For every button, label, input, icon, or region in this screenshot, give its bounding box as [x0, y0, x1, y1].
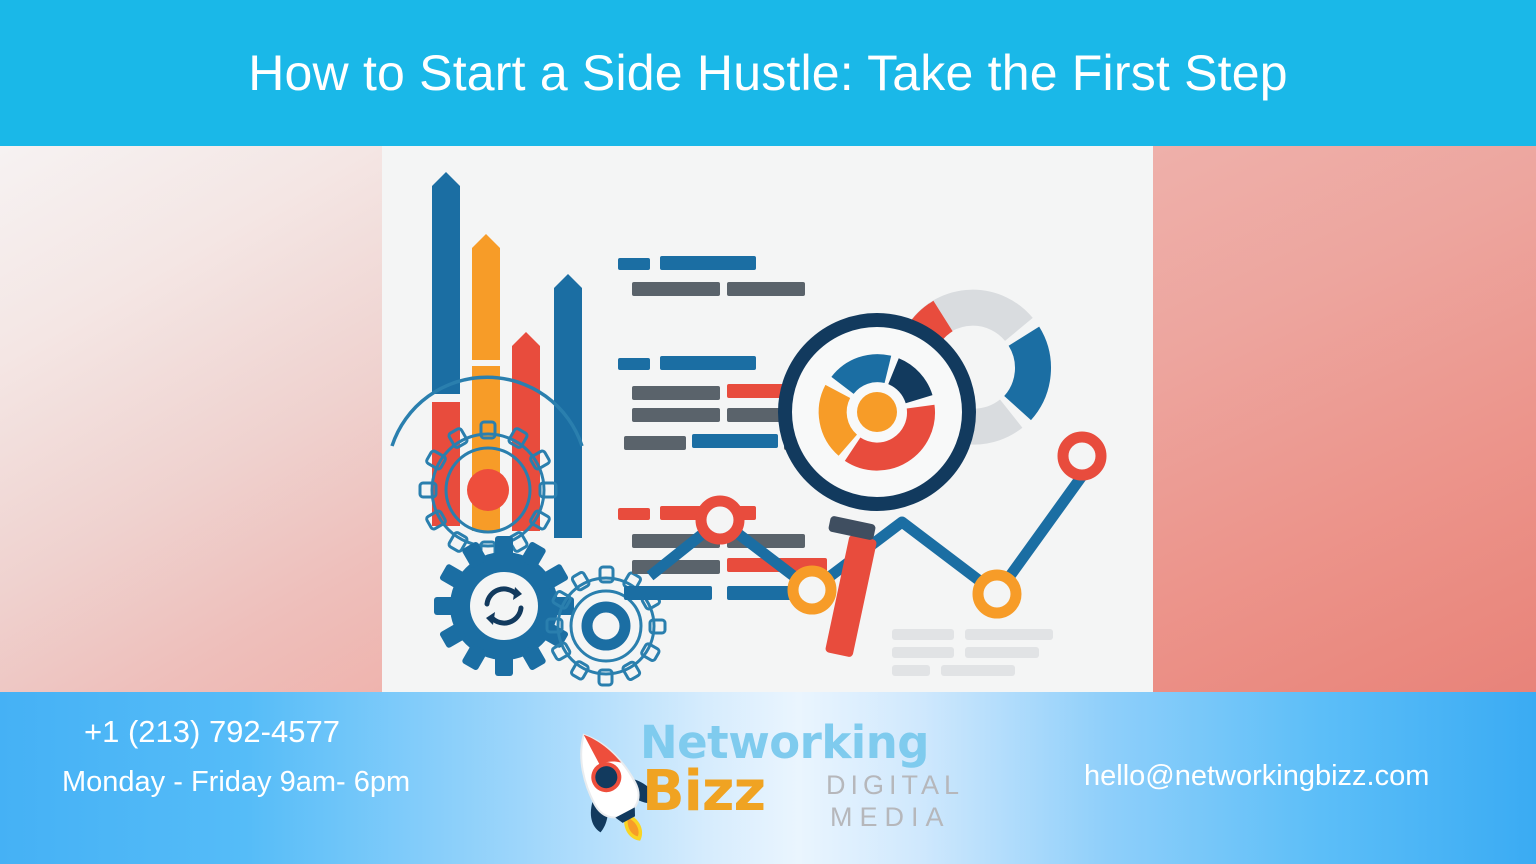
gear-outline-blue-ring [547, 567, 665, 685]
left-gradient-panel [0, 146, 382, 692]
logo-sub-digital: DIGITAL [826, 772, 964, 799]
text-lines-block-1 [618, 256, 805, 296]
footer-contact-block: +1 (213) 792-4577 Monday - Friday 9am- 6… [62, 714, 482, 799]
header-bar: How to Start a Side Hustle: Take the Fir… [0, 0, 1536, 146]
logo-sub-media: MEDIA [830, 804, 951, 831]
email-address[interactable]: hello@networkingbizz.com [1084, 760, 1429, 793]
gear-center-dot [467, 469, 509, 511]
donut-chart-magnified [833, 368, 921, 456]
right-gradient-panel [1153, 146, 1536, 692]
business-hours: Monday - Friday 9am- 6pm [62, 766, 482, 799]
placeholder-lines-group [892, 629, 1053, 676]
illustration-panel [382, 146, 1153, 692]
content-stage [0, 146, 1536, 692]
logo-line-bizz: Bizz [642, 764, 765, 820]
business-analytics-illustration [382, 146, 1153, 692]
page-title: How to Start a Side Hustle: Take the Fir… [248, 48, 1288, 98]
brand-logo[interactable]: Networking Bizz DIGITAL MEDIA [556, 714, 956, 854]
phone-number[interactable]: +1 (213) 792-4577 [62, 714, 482, 750]
donut-center-dot [857, 392, 897, 432]
poster: How to Start a Side Hustle: Take the Fir… [0, 0, 1536, 864]
logo-wordmark: Networking Bizz DIGITAL MEDIA [640, 714, 960, 854]
